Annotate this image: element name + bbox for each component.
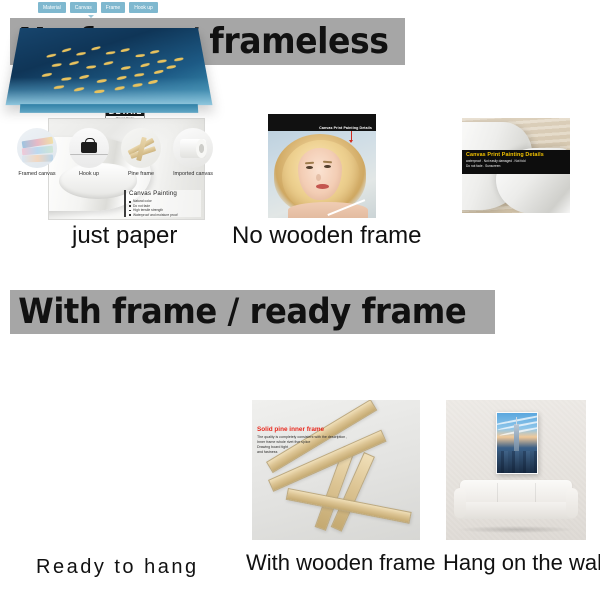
down-arrow-icon bbox=[351, 131, 352, 140]
section-banner-with-frame: With frame / ready frame bbox=[10, 290, 495, 334]
caption-hang-on-the-wall: Hang on the wall bbox=[443, 550, 600, 576]
caption-with-wooden-frame: With wooden frame bbox=[246, 550, 436, 576]
canvas-spec-list: Natural color Do not fade High tensile s… bbox=[129, 199, 201, 217]
white-sofa bbox=[454, 480, 578, 528]
canvas-roll-band-line: Do not fade . Sunscreen bbox=[466, 164, 566, 169]
feature-tab-row: Material Canvas Frame Hook up bbox=[38, 2, 158, 13]
pine-frame-description: The quality is completely consistent wit… bbox=[257, 435, 347, 455]
portrait-nose bbox=[316, 174, 321, 181]
portrait-overlay-bar: Canvas Print Painting Details bbox=[268, 114, 376, 131]
sofa-arm-left bbox=[454, 488, 466, 518]
feature-label: Hook up bbox=[68, 171, 110, 177]
caption-no-wooden-frame: No wooden frame bbox=[232, 222, 421, 250]
caption-just-paper: just paper bbox=[72, 222, 177, 250]
tab-material[interactable]: Material bbox=[38, 2, 66, 13]
fish-artwork-canvas bbox=[6, 28, 213, 105]
feature-icon-row: Framed canvas Hook up Pine frame Importe… bbox=[16, 128, 214, 177]
portrait-lips bbox=[316, 184, 329, 189]
portrait-overlay-label: Canvas Print Painting Details bbox=[319, 126, 372, 130]
hook-up-icon bbox=[69, 128, 109, 168]
feature-label: Pine frame bbox=[120, 171, 162, 177]
product-photo-hang-on-wall[interactable] bbox=[446, 400, 586, 540]
caption-ready-to-hang: Ready to hang bbox=[36, 556, 199, 579]
section-banner-with-frame-label: With frame / ready frame bbox=[10, 292, 466, 332]
artwork-fish-school bbox=[6, 28, 213, 105]
sofa-arm-right bbox=[566, 488, 578, 518]
canvas-spec-title: Canvas Painting bbox=[129, 190, 201, 198]
pine-frame-desc-line: and fastness bbox=[257, 450, 347, 455]
feature-label: Imported canvas bbox=[172, 171, 214, 177]
product-detail-page: No frame/ frameless DETAIL Material Disp… bbox=[0, 0, 600, 600]
chevron-down-icon bbox=[88, 15, 94, 18]
portrait-shoulder bbox=[288, 202, 368, 218]
sofa-seat bbox=[456, 502, 576, 519]
tab-hook-up[interactable]: Hook up bbox=[129, 2, 158, 13]
city-skyline bbox=[497, 451, 537, 473]
pine-frame-title: Solid pine inner frame bbox=[257, 426, 324, 434]
canvas-roll-band-title: Canvas Print Painting Details bbox=[466, 152, 566, 159]
feature-hook-up[interactable]: Hook up bbox=[68, 128, 110, 177]
feature-label: Framed canvas bbox=[16, 171, 58, 177]
canvas-spec-box: Canvas Painting Natural color Do not fad… bbox=[124, 190, 201, 217]
canvas-spec-item: Waterproof and moisture proof bbox=[129, 213, 201, 217]
imported-canvas-icon bbox=[173, 128, 213, 168]
feature-imported-canvas[interactable]: Imported canvas bbox=[172, 128, 214, 177]
framed-canvas-icon bbox=[17, 128, 57, 168]
sofa-shadow bbox=[458, 526, 574, 533]
feature-framed-canvas[interactable]: Framed canvas bbox=[16, 128, 58, 177]
tab-canvas[interactable]: Canvas bbox=[70, 2, 97, 13]
tab-frame[interactable]: Frame bbox=[101, 2, 125, 13]
canvas-roll-overlay-band: Canvas Print Painting Details waterproof… bbox=[462, 150, 570, 174]
product-photo-canvas-roll[interactable]: Canvas Print Painting Details waterproof… bbox=[462, 118, 570, 213]
feature-pine-frame[interactable]: Pine frame bbox=[120, 128, 162, 177]
pine-frame-icon bbox=[121, 128, 161, 168]
product-photo-no-wooden-frame[interactable]: Canvas Print Painting Details bbox=[268, 114, 376, 218]
canvas-depth-edge bbox=[20, 104, 199, 113]
wall-artwork-cityscape bbox=[496, 412, 538, 474]
product-photo-wooden-frame[interactable]: Solid pine inner frame The quality is co… bbox=[252, 400, 420, 540]
